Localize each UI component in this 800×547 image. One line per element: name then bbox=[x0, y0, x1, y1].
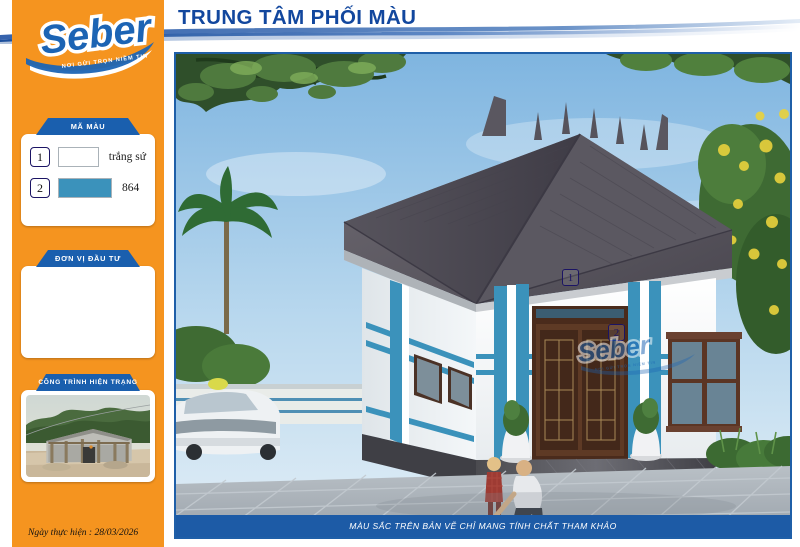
panel-don-vi-dau-tu-title: ĐƠN VỊ ĐẦU TƯ bbox=[36, 250, 140, 267]
color-marker-1[interactable]: 1 bbox=[562, 269, 579, 286]
panel-don-vi-dau-tu: ĐƠN VỊ ĐẦU TƯ bbox=[21, 250, 155, 358]
panel-cong-trinh-hien-trang: CÔNG TRÌNH HIỆN TRẠNG bbox=[21, 374, 155, 482]
color-marker-2[interactable]: 2 bbox=[608, 324, 625, 341]
panel-ma-mau-title: MÃ MÀU bbox=[36, 118, 140, 135]
sidebar: Seber NƠI GỬI TRỌN NIỀM TIN MÃ MÀU 1 trắ… bbox=[12, 0, 164, 547]
panel-don-vi-dau-tu-tab: ĐƠN VỊ ĐẦU TƯ bbox=[36, 250, 140, 267]
panel-cong-trinh-hien-trang-title: CÔNG TRÌNH HIỆN TRẠNG bbox=[36, 374, 140, 391]
render-frame: 1 2 Seber NƠI GỬI TRỌN NIỀM TIN MÀU SẮC … bbox=[174, 52, 792, 539]
color-matching-sheet: TRUNG TÂM PHỐI MÀU Seber NƠI GỬI TRỌN NI… bbox=[0, 0, 800, 547]
color-row[interactable]: 1 trắng sứ bbox=[30, 145, 146, 169]
panel-ma-mau-tab: MÃ MÀU bbox=[36, 118, 140, 135]
panel-cong-trinh-hien-trang-body bbox=[21, 390, 155, 482]
color-row[interactable]: 2 864 bbox=[30, 176, 146, 200]
render-caption-bar: MÀU SẮC TRÊN BẢN VẼ CHỈ MANG TÍNH CHẤT T… bbox=[176, 515, 790, 537]
front-window-right bbox=[666, 332, 742, 432]
house-rendering-image[interactable] bbox=[176, 54, 790, 537]
render-caption-text: MÀU SẮC TRÊN BẢN VẼ CHỈ MANG TÍNH CHẤT T… bbox=[349, 521, 617, 531]
construction-photo[interactable] bbox=[26, 395, 150, 477]
color-swatch[interactable] bbox=[58, 147, 99, 167]
color-swatch[interactable] bbox=[58, 178, 112, 198]
panel-ma-mau: MÃ MÀU 1 trắng sứ 2 864 bbox=[21, 118, 155, 226]
color-name: 864 bbox=[122, 182, 139, 194]
color-index-badge: 1 bbox=[30, 147, 50, 167]
execution-date: Ngày thực hiện : 28/03/2026 bbox=[28, 527, 138, 538]
panel-don-vi-dau-tu-body[interactable] bbox=[21, 266, 155, 358]
construction-photo-image bbox=[26, 395, 150, 477]
color-name: trắng sứ bbox=[109, 151, 146, 163]
seber-logo-icon: Seber NƠI GỬI TRỌN NIỀM TIN bbox=[12, 2, 164, 84]
color-index-badge: 2 bbox=[30, 178, 50, 198]
brand-logo: Seber NƠI GỬI TRỌN NIỀM TIN bbox=[12, 2, 164, 84]
panel-ma-mau-body: 1 trắng sứ 2 864 bbox=[21, 134, 155, 226]
page-title: TRUNG TÂM PHỐI MÀU bbox=[178, 6, 416, 30]
panel-cong-trinh-hien-trang-tab: CÔNG TRÌNH HIỆN TRẠNG bbox=[36, 374, 140, 391]
